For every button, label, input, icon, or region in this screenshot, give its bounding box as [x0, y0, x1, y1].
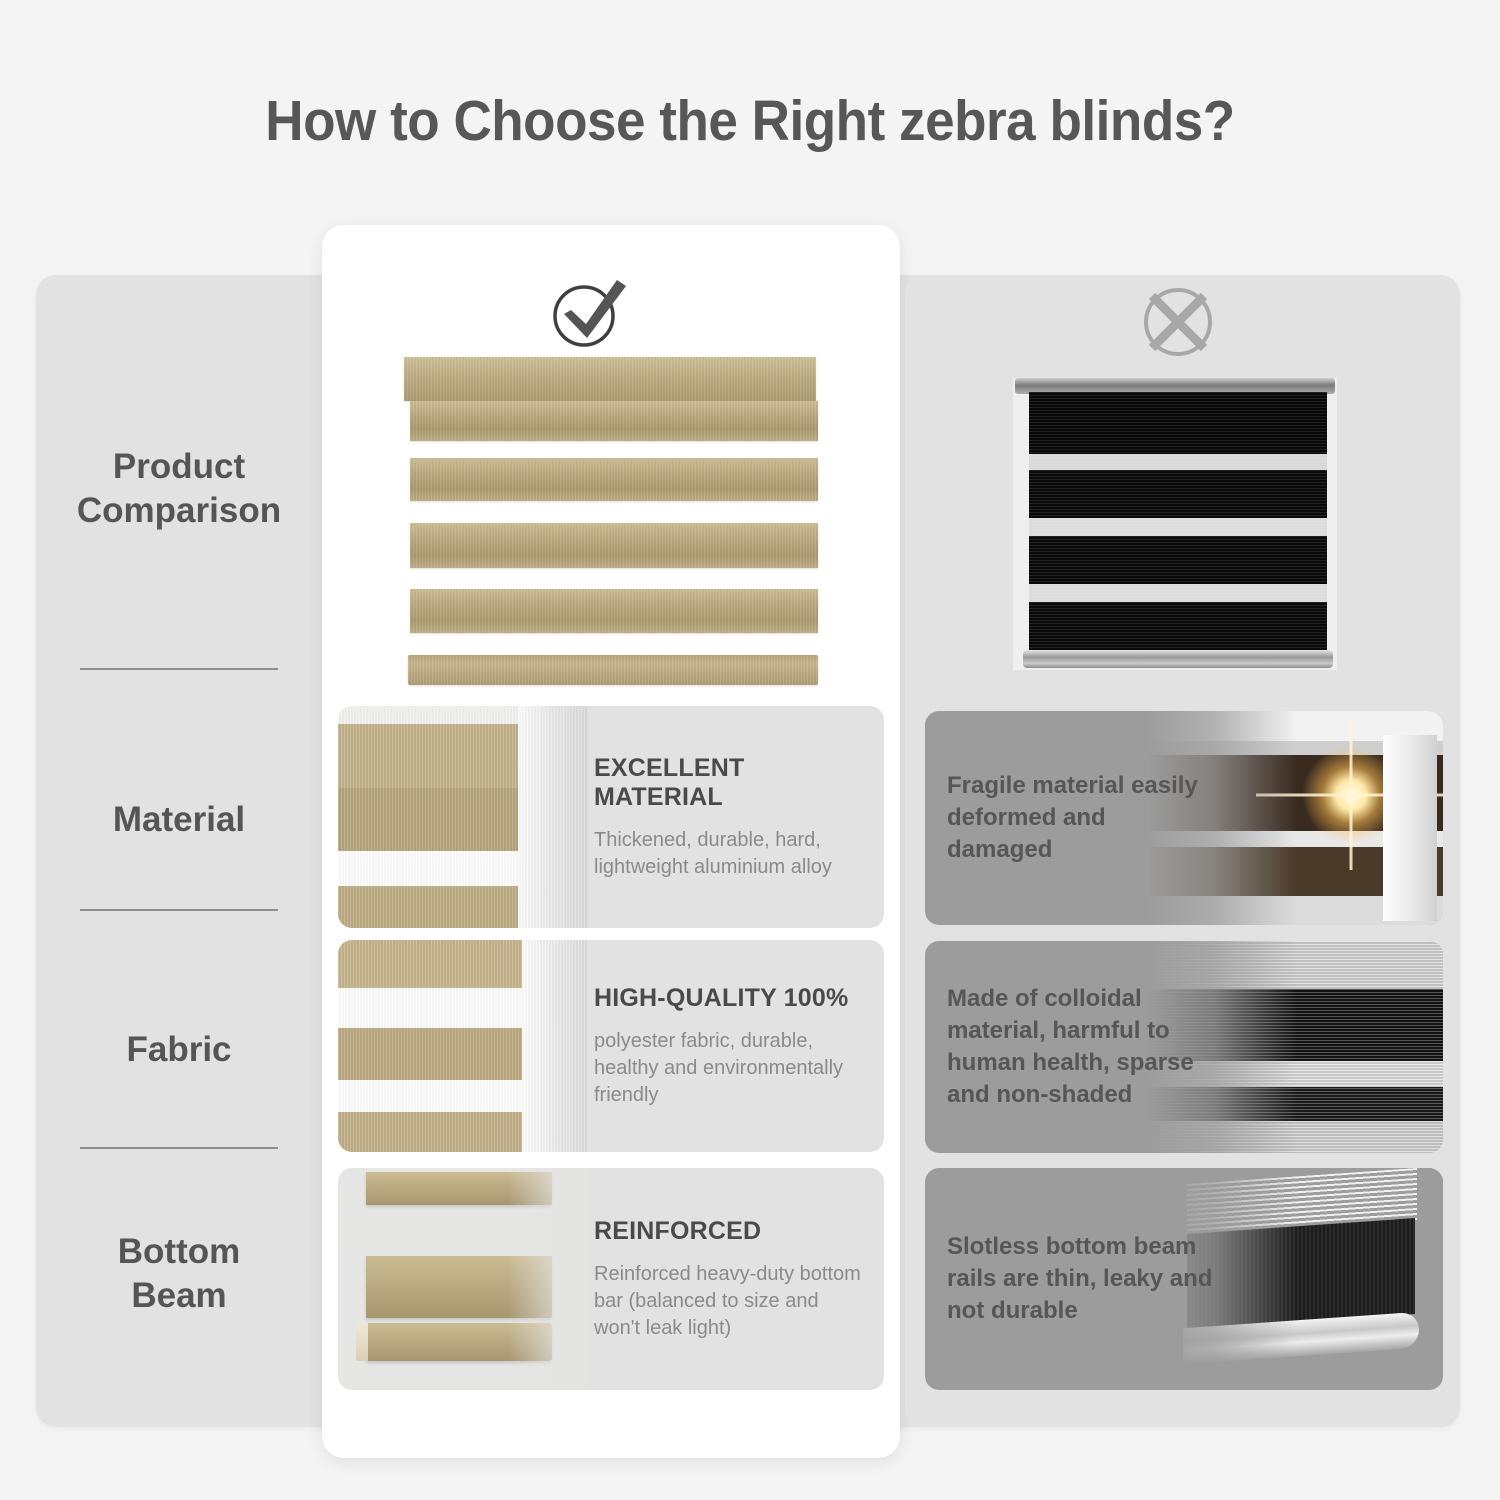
blind-slat	[410, 589, 818, 633]
feature-card-material: EXCELLENT MATERIAL Thickened, durable, h…	[338, 706, 884, 928]
row-label-material: Material	[36, 798, 322, 842]
feature-image-material	[338, 706, 588, 928]
negative-card-material: Fragile material easily deformed and dam…	[925, 711, 1443, 925]
feature-body: Thickened, durable, hard, lightweight al…	[594, 827, 862, 881]
page-title: How to Choose the Right zebra blinds?	[53, 88, 1448, 154]
blind-slat	[410, 458, 818, 501]
row-label-bottom-beam-line1: Bottom	[118, 1232, 240, 1271]
feature-card-fabric: HIGH-QUALITY 100% polyester fabric, dura…	[338, 940, 884, 1152]
negative-text-material: Fragile material easily deformed and dam…	[947, 711, 1217, 925]
blind-headrail	[404, 357, 816, 401]
negative-text-bottom-beam: Slotless bottom beam rails are thin, lea…	[947, 1168, 1217, 1390]
feature-heading: REINFORCED	[594, 1217, 862, 1246]
blind-slat	[410, 401, 818, 441]
negative-card-fabric: Made of colloidal material, harmful to h…	[925, 941, 1443, 1153]
feature-body: polyester fabric, durable, healthy and e…	[594, 1028, 862, 1109]
row-divider-1	[80, 668, 278, 670]
feature-heading: EXCELLENT MATERIAL	[594, 754, 862, 812]
check-circle-icon	[542, 272, 642, 352]
hero-image-beige-zebra-blind	[404, 357, 816, 697]
feature-body: Reinforced heavy-duty bottom bar (balanc…	[594, 1261, 862, 1342]
cross-circle-icon	[1128, 282, 1228, 362]
window-frame	[1383, 735, 1437, 921]
row-label-bottom-beam: Bottom Beam	[36, 1230, 322, 1318]
black-blind-fabric	[1029, 392, 1327, 650]
row-label-product-comparison: Product Comparison	[36, 445, 322, 533]
image-fade-overlay	[508, 1168, 588, 1390]
blind-bottom-bar	[408, 655, 818, 685]
row-label-product-comparison-line1: Product	[113, 447, 245, 486]
row-divider-3	[80, 1147, 278, 1149]
feature-text-bottom-beam: REINFORCED Reinforced heavy-duty bottom …	[594, 1168, 872, 1390]
negative-text-fabric: Made of colloidal material, harmful to h…	[947, 941, 1217, 1153]
row-divider-2	[80, 909, 278, 911]
feature-text-material: EXCELLENT MATERIAL Thickened, durable, h…	[594, 706, 872, 928]
feature-text-fabric: HIGH-QUALITY 100% polyester fabric, dura…	[594, 940, 872, 1152]
row-label-column: Product Comparison Material Fabric Botto…	[36, 275, 322, 1427]
infographic-root: How to Choose the Right zebra blinds? Pr…	[0, 0, 1500, 1500]
black-blind-bottom-rail	[1023, 650, 1333, 668]
feature-image-bottom-beam	[338, 1168, 588, 1390]
feature-heading: HIGH-QUALITY 100%	[594, 984, 862, 1013]
feature-card-bottom-beam: REINFORCED Reinforced heavy-duty bottom …	[338, 1168, 884, 1390]
hero-image-black-zebra-blind	[1013, 378, 1337, 670]
row-label-product-comparison-line2: Comparison	[77, 491, 281, 530]
blind-slat	[410, 523, 818, 568]
row-label-fabric: Fabric	[36, 1028, 322, 1072]
negative-card-bottom-beam: Slotless bottom beam rails are thin, lea…	[925, 1168, 1443, 1390]
row-label-bottom-beam-line2: Beam	[131, 1276, 226, 1315]
feature-image-fabric	[338, 940, 588, 1152]
